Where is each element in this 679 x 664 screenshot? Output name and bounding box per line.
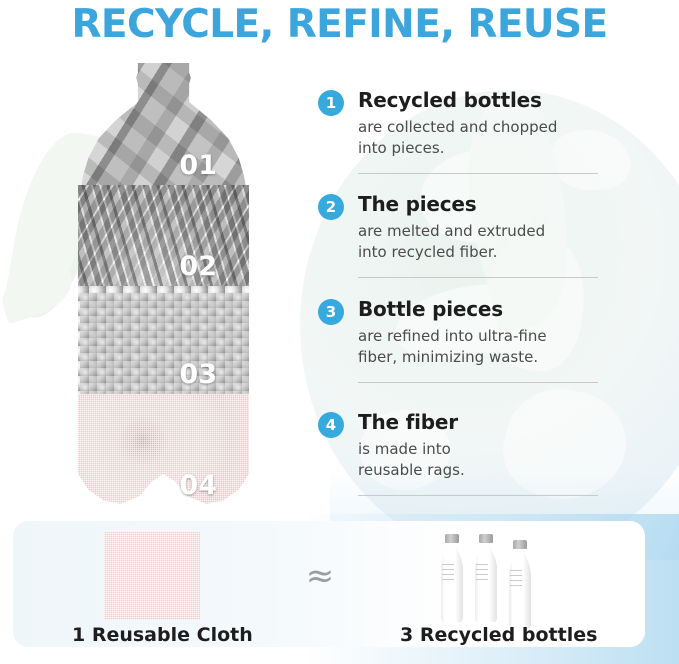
bottle-cap-icon — [445, 534, 459, 543]
step-description-3: are refined into ultra-fine fiber, minim… — [358, 326, 547, 368]
step-badge-2: 2 — [318, 194, 344, 220]
step-title-4: The fiber — [358, 410, 458, 434]
bottle-band-01: 01 — [78, 63, 249, 185]
step-divider-4 — [358, 495, 598, 496]
step-badge-3: 3 — [318, 299, 344, 325]
step-divider-2 — [358, 277, 598, 278]
step-divider-1 — [358, 173, 598, 174]
pink-cloth-texture — [78, 394, 249, 505]
bottle-ribs — [476, 564, 488, 582]
band-number-01: 01 — [179, 150, 217, 181]
bottle-body — [473, 543, 499, 622]
bottle-icon-2 — [472, 534, 500, 622]
comparison-left-label: 1 Reusable Cloth — [72, 624, 253, 646]
step-title-1: Recycled bottles — [358, 88, 542, 112]
infographic-page: RECYCLE, REFINE, REUSE 01 02 03 04 1 Rec… — [0, 0, 679, 664]
step-badge-4: 4 — [318, 412, 344, 438]
reusable-cloth-icon — [104, 532, 200, 620]
bottle-band-04: 04 — [78, 394, 249, 505]
band-number-04: 04 — [179, 470, 217, 501]
band-number-02: 02 — [179, 251, 217, 282]
step-description-4: is made into reusable rags. — [358, 439, 465, 481]
bottle-cap-icon — [513, 540, 527, 549]
approximately-equal-icon: ≈ — [296, 556, 344, 596]
step-description-1: are collected and chopped into pieces. — [358, 117, 557, 159]
bottle-ribs — [442, 564, 454, 582]
comparison-right-label: 3 Recycled bottles — [400, 624, 597, 646]
step-divider-3 — [358, 382, 598, 383]
bottle-body — [507, 549, 533, 628]
step-description-2: are melted and extruded into recycled fi… — [358, 221, 545, 263]
globe-continents-watermark — [300, 90, 679, 560]
bead-pellets-texture — [78, 286, 249, 394]
fiber-strands-texture — [78, 185, 249, 286]
recycled-bottles-icon — [438, 528, 538, 622]
page-title: RECYCLE, REFINE, REUSE — [0, 2, 679, 47]
crushed-flakes-texture — [78, 63, 249, 185]
bottle-diagram: 01 02 03 04 — [78, 63, 249, 505]
step-badge-1: 1 — [318, 90, 344, 116]
bottle-icon-1 — [438, 534, 466, 622]
bottle-icon-3 — [506, 540, 534, 628]
band-number-03: 03 — [179, 359, 217, 390]
bottle-cap-icon — [479, 534, 493, 543]
bottle-band-03: 03 — [78, 286, 249, 394]
bottle-body — [439, 543, 465, 622]
bottle-ribs — [510, 570, 522, 588]
globe-watermark — [300, 90, 679, 560]
step-title-3: Bottle pieces — [358, 297, 503, 321]
bottle-band-02: 02 — [78, 185, 249, 286]
step-title-2: The pieces — [358, 192, 476, 216]
leaf-small-watermark — [0, 258, 79, 325]
